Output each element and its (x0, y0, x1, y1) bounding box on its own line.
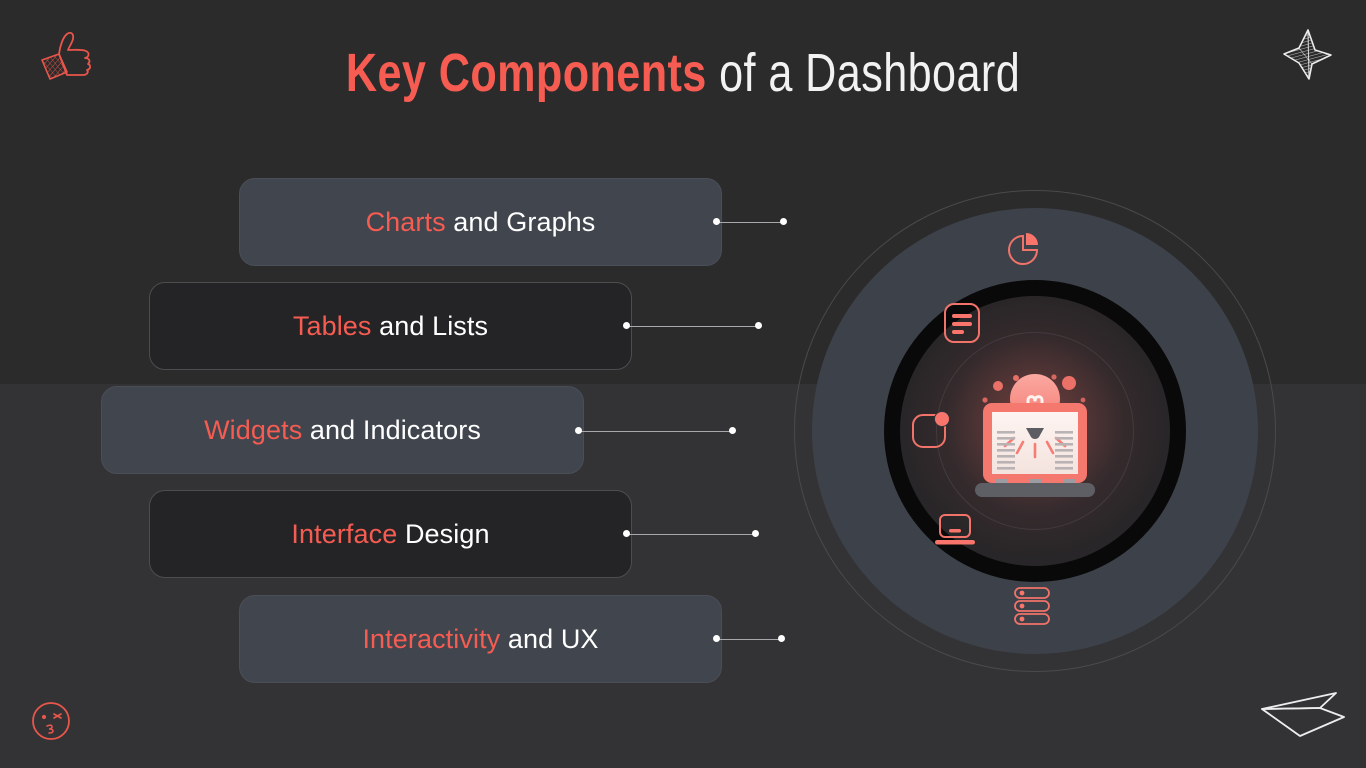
connector-1 (713, 218, 787, 226)
star-doodle (1278, 24, 1336, 84)
component-card-5-label: Interactivity and UX (362, 624, 598, 655)
component-card-3-accent: Widgets (204, 415, 302, 445)
component-card-4[interactable]: Interface Design (149, 490, 632, 578)
connector-5 (713, 635, 785, 643)
widget-badge-icon[interactable] (908, 407, 954, 453)
page-title-plain: of a Dashboard (707, 43, 1020, 103)
component-card-2-label: Tables and Lists (293, 311, 488, 342)
thumbs-up-doodle (34, 26, 100, 88)
connector-2-dot-end (755, 322, 762, 329)
connector-1-dot-end (780, 218, 787, 225)
component-card-1-label: Charts and Graphs (366, 207, 596, 238)
connector-4-line (626, 534, 756, 535)
laptop-with-lightbulb-illustration (965, 356, 1105, 506)
component-card-3-label: Widgets and Indicators (204, 415, 481, 446)
server-stack-icon[interactable] (1009, 583, 1055, 629)
connector-5-line (716, 639, 782, 640)
component-card-4-label: Interface Design (291, 519, 489, 550)
kissing-face-doodle (28, 698, 74, 744)
connector-2 (623, 322, 762, 330)
component-card-5[interactable]: Interactivity and UX (239, 595, 722, 683)
component-card-2[interactable]: Tables and Lists (149, 282, 632, 370)
connector-3-dot-start (575, 427, 582, 434)
connector-1-dot-start (713, 218, 720, 225)
paper-plane-doodle (1256, 686, 1352, 744)
slide-canvas: Key Components of a Dashboard Charts and… (0, 0, 1366, 768)
connector-1-line (716, 222, 784, 223)
connector-5-dot-end (778, 635, 785, 642)
component-card-4-rest: Design (397, 519, 489, 549)
connector-5-dot-start (713, 635, 720, 642)
component-card-1-accent: Charts (366, 207, 446, 237)
document-list-icon[interactable] (940, 301, 984, 345)
page-title: Key Components of a Dashboard (137, 42, 1230, 104)
component-card-1[interactable]: Charts and Graphs (239, 178, 722, 266)
component-card-3-rest: and Indicators (302, 415, 481, 445)
connector-4 (623, 530, 759, 538)
component-card-1-rest: and Graphs (446, 207, 596, 237)
component-card-2-rest: and Lists (372, 311, 489, 341)
page-title-accent: Key Components (346, 43, 707, 103)
component-card-2-accent: Tables (293, 311, 372, 341)
component-card-3[interactable]: Widgets and Indicators (101, 386, 584, 474)
connector-4-dot-start (623, 530, 630, 537)
component-card-5-accent: Interactivity (362, 624, 500, 654)
laptop-icon[interactable] (932, 507, 978, 553)
connector-3 (575, 427, 736, 435)
connector-3-line (578, 431, 733, 432)
connector-4-dot-end (752, 530, 759, 537)
pie-chart-icon[interactable] (1001, 227, 1047, 273)
connector-2-line (626, 326, 759, 327)
component-card-5-rest: and UX (500, 624, 598, 654)
component-card-4-accent: Interface (291, 519, 397, 549)
connector-2-dot-start (623, 322, 630, 329)
concentric-circle-diagram (794, 190, 1276, 672)
connector-3-dot-end (729, 427, 736, 434)
